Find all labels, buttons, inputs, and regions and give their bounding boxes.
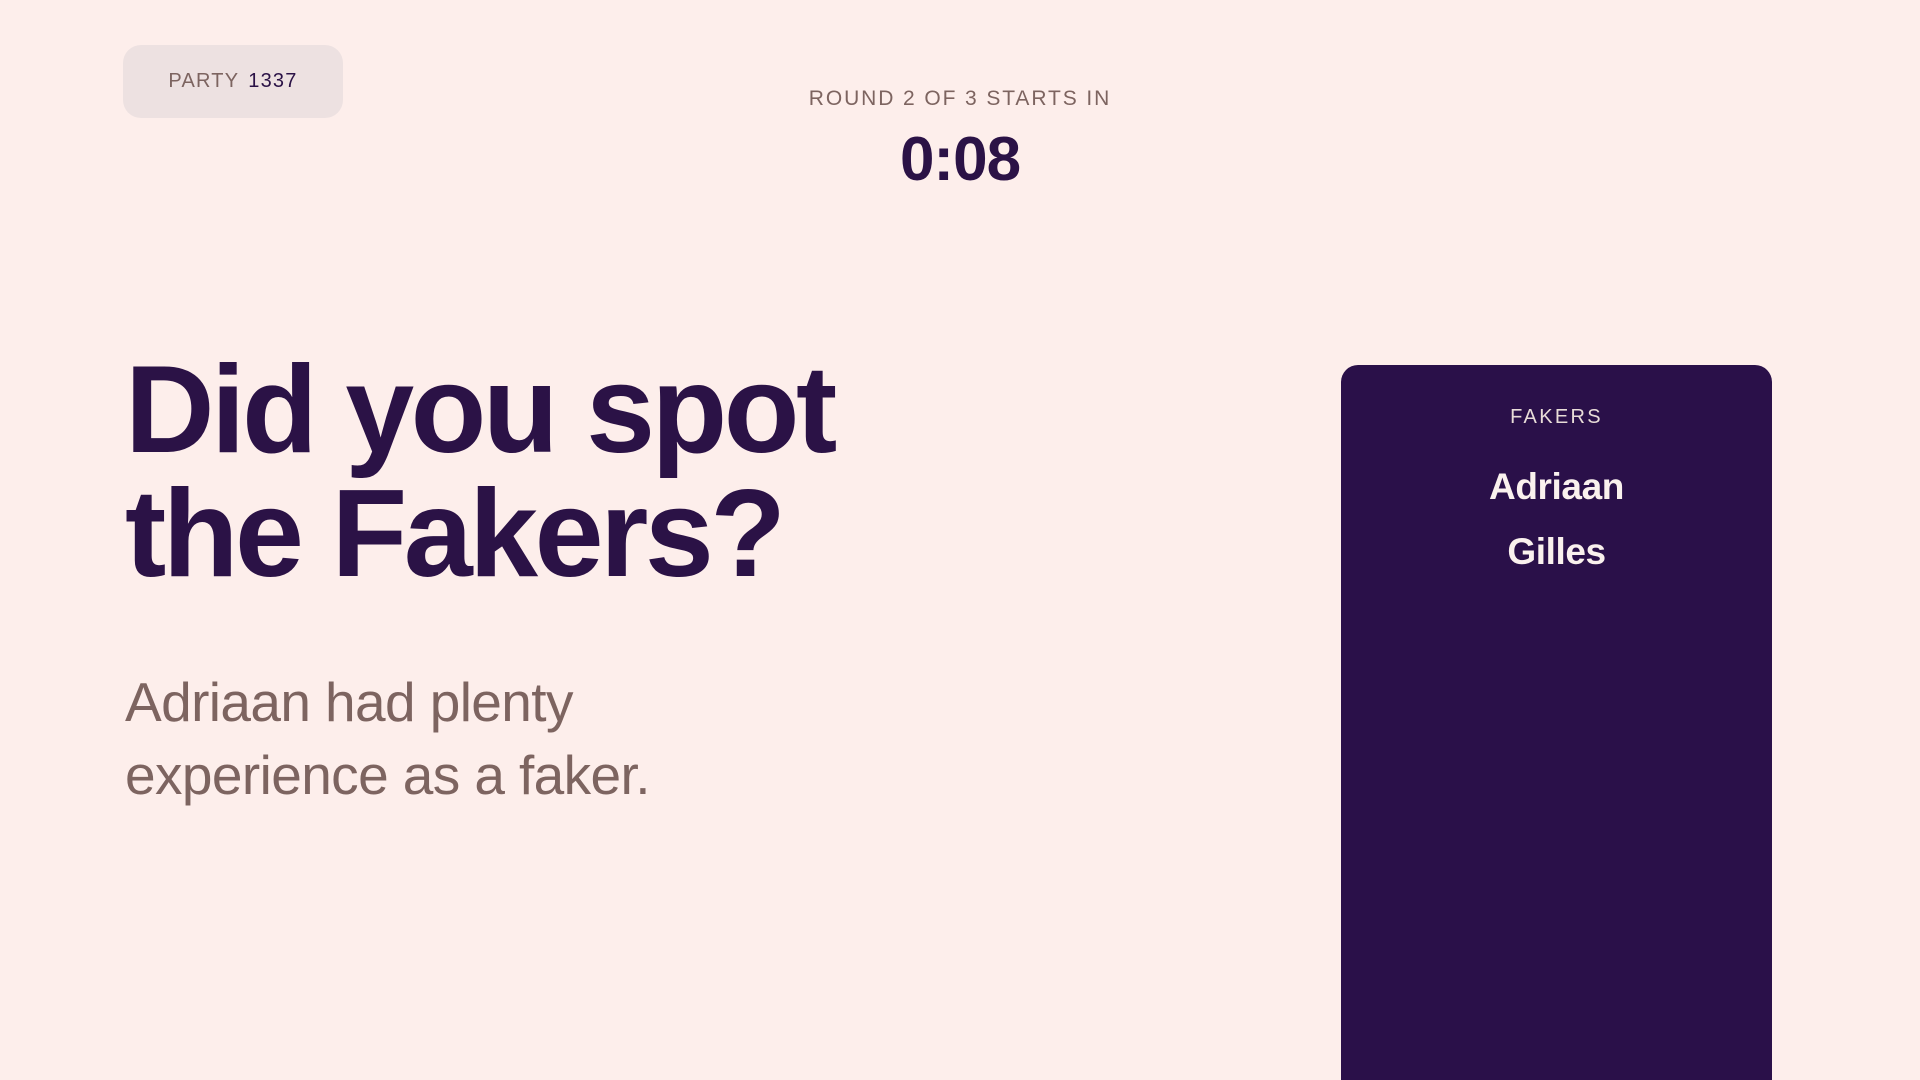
round-countdown-timer: 0:08	[0, 129, 1920, 191]
page-subtitle: Adriaan had plenty experience as a faker…	[125, 666, 1145, 812]
round-status-label: ROUND 2 OF 3 STARTS IN	[0, 88, 1920, 109]
top-bar: PARTY 1337 ROUND 2 OF 3 STARTS IN 0:08	[0, 0, 1920, 220]
main-content: Did you spot the Fakers? Adriaan had ple…	[125, 348, 1145, 812]
round-status-block: ROUND 2 OF 3 STARTS IN 0:08	[0, 0, 1920, 191]
page-title: Did you spot the Fakers?	[125, 348, 1145, 596]
faker-name-item: Gilles	[1341, 529, 1772, 574]
fakers-panel-label: FAKERS	[1341, 407, 1772, 427]
faker-name-item: Adriaan	[1341, 464, 1772, 509]
fakers-name-list: Adriaan Gilles	[1341, 464, 1772, 574]
fakers-panel: FAKERS Adriaan Gilles	[1341, 365, 1772, 1080]
